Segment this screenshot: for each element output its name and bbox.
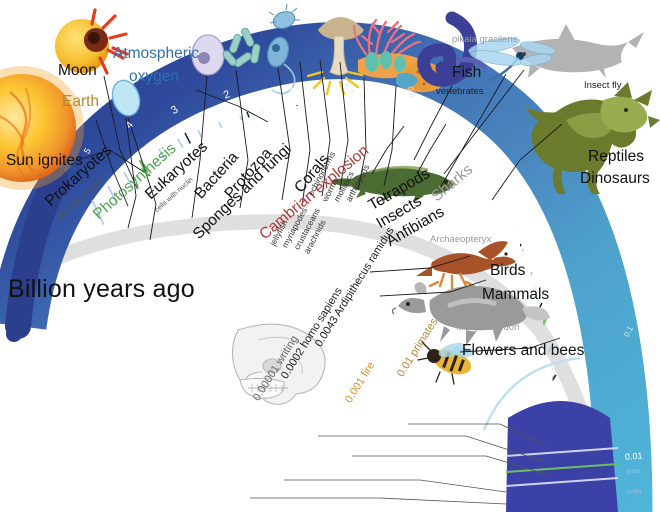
arc-marker-1: 1 [287,83,294,96]
label-reptiles: Reptiles [588,148,644,166]
label-fish-sub: vertebrates [436,86,484,97]
label-insect-fly: Insect fly [584,80,622,91]
label-moon: Moon [58,62,97,80]
inset-scale-0.001: 0.001 [627,469,641,476]
axis-label: Billion years ago [8,275,195,304]
label-atmospheric-oxygen-line1: Atmospheric [113,45,199,63]
label-atmospheric-oxygen-line2: oxygen [129,68,179,86]
inset-scale-0.01: 0.01 [625,450,643,461]
caption-archaeopteryx: Archaeopteryx [430,234,491,245]
label-dinosaurs: Dinosaurs [580,170,650,188]
caption-pikaia: pikaia gracilens [452,34,517,45]
timeline-arc-graphic [0,0,660,512]
label-sun-ignites: Sun ignites [6,152,83,170]
infographic-timeline: Billion years ago Sun ignites Moon Earth… [0,0,660,512]
label-flowers-and-bees: Flowers and bees [462,342,584,360]
label-birds: Birds [490,262,525,280]
caption-morganucodon: Morganucodon [456,322,519,333]
label-mammals: Mammals [482,286,549,304]
label-earth: Earth [62,93,99,111]
label-fish: Fish [452,64,481,82]
arc-scale-0.5: 0.5 [406,86,417,99]
